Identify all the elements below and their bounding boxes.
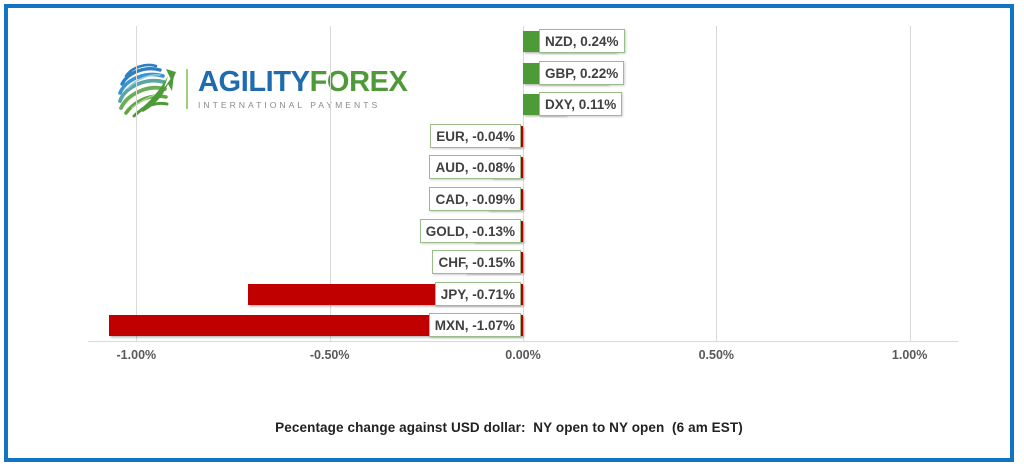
bar-chart-plot-area: NZD, 0.24%GBP, 0.22%DXY, 0.11%EUR, -0.04… <box>88 26 958 342</box>
x-tick-label: -1.00% <box>117 348 157 362</box>
bar-row: GOLD, -0.13% <box>88 216 958 248</box>
data-label-jpy: JPY, -0.71% <box>435 282 521 306</box>
bar-row: AUD, -0.08% <box>88 152 958 184</box>
bar-row: NZD, 0.24% <box>88 26 958 58</box>
bar-row: CHF, -0.15% <box>88 247 958 279</box>
bar-row: MXN, -1.07% <box>88 310 958 342</box>
bar-row: CAD, -0.09% <box>88 184 958 216</box>
data-label-gbp: GBP, 0.22% <box>539 61 624 85</box>
data-label-chf: CHF, -0.15% <box>432 250 521 274</box>
data-label-nzd: NZD, 0.24% <box>539 29 625 53</box>
data-label-gold: GOLD, -0.13% <box>420 219 521 243</box>
x-tick-label: 1.00% <box>892 348 927 362</box>
bar-row: EUR, -0.04% <box>88 121 958 153</box>
data-label-aud: AUD, -0.08% <box>429 155 521 179</box>
data-label-dxy: DXY, 0.11% <box>539 92 622 116</box>
bar-row: GBP, 0.22% <box>88 58 958 90</box>
x-tick-label: 0.00% <box>505 348 540 362</box>
x-tick-label: 0.50% <box>699 348 734 362</box>
bar-row: DXY, 0.11% <box>88 89 958 121</box>
bar-row: JPY, -0.71% <box>88 279 958 311</box>
data-label-eur: EUR, -0.04% <box>430 124 521 148</box>
x-tick-label: -0.50% <box>310 348 350 362</box>
chart-caption: Pecentage change against USD dollar: NY … <box>8 420 1010 435</box>
data-label-cad: CAD, -0.09% <box>429 187 521 211</box>
data-label-mxn: MXN, -1.07% <box>429 313 521 337</box>
chart-frame: AGILITYFOREX INTERNATIONAL PAYMENTS NZD,… <box>4 4 1014 462</box>
